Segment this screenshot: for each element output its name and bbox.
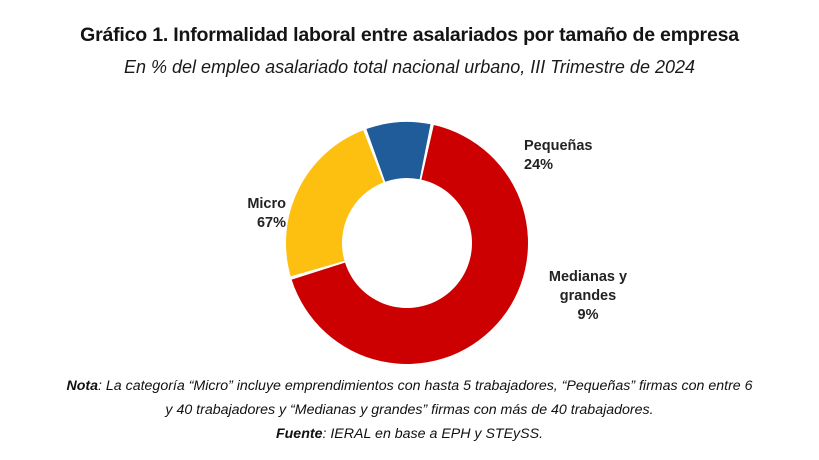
slice-label-pequenas-value: 24% — [524, 156, 674, 175]
note-text-2: y 40 trabajadores y “Medianas y grandes”… — [165, 402, 653, 418]
slice-label-micro-value: 67% — [196, 214, 286, 233]
donut-slice-pequeas[interactable] — [286, 130, 383, 276]
slice-label-medianas-name-line1: Medianas y — [549, 269, 627, 285]
note-line-1: Nota: La categoría “Micro” incluye empre… — [0, 374, 819, 398]
plot-area: Micro 67% Pequeñas 24% Medianas y grande… — [0, 100, 819, 372]
slice-label-medianas-name-line2: grandes — [528, 287, 648, 306]
slice-label-medianas: Medianas y grandes 9% — [528, 268, 648, 325]
slice-label-micro-name: Micro — [247, 196, 286, 212]
donut-svg — [284, 120, 530, 366]
chart-subtitle: En % del empleo asalariado total naciona… — [0, 54, 819, 80]
slice-label-pequenas-name: Pequeñas — [524, 138, 593, 154]
note-line-2: y 40 trabajadores y “Medianas y grandes”… — [0, 398, 819, 422]
page-title: Gráfico 1. Informalidad laboral entre as… — [0, 22, 819, 48]
chart-footnotes: Nota: La categoría “Micro” incluye empre… — [0, 374, 819, 446]
note-label: Nota — [66, 378, 98, 394]
source-line: Fuente: IERAL en base a EPH y STEySS. — [0, 422, 819, 446]
slice-label-medianas-value: 9% — [528, 306, 648, 325]
chart-header: Gráfico 1. Informalidad laboral entre as… — [0, 22, 819, 80]
donut-chart — [284, 120, 530, 366]
slice-label-pequenas: Pequeñas 24% — [524, 137, 674, 175]
chart-figure: Gráfico 1. Informalidad laboral entre as… — [0, 0, 819, 460]
slice-label-micro: Micro 67% — [196, 195, 286, 233]
source-text: : IERAL en base a EPH y STEySS. — [322, 426, 543, 442]
note-text-1: : La categoría “Micro” incluye emprendim… — [98, 378, 753, 394]
source-label: Fuente — [276, 426, 323, 442]
